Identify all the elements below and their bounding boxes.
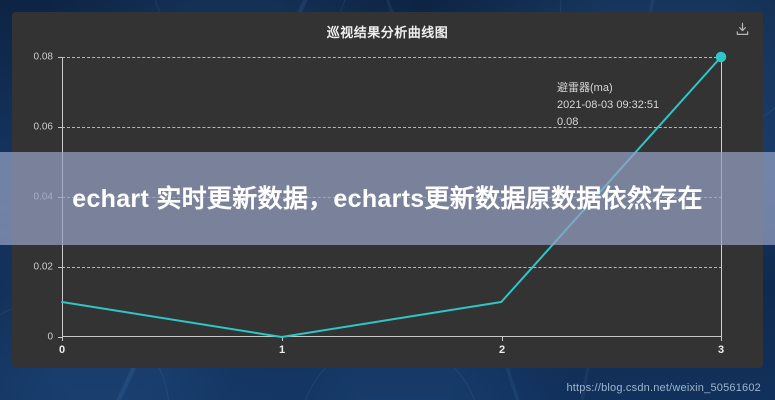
- y-axis-label: 0: [47, 332, 53, 343]
- y-axis-label: 0.02: [34, 262, 53, 273]
- y-axis-label: 0.08: [34, 52, 53, 63]
- article-title: echart 实时更新数据，echarts更新数据原数据依然存在: [48, 182, 727, 216]
- x-axis-label: 3: [718, 344, 724, 356]
- chart-title: 巡视结果分析曲线图: [12, 22, 763, 41]
- x-tick: [721, 337, 722, 341]
- x-axis-label: 1: [279, 344, 285, 356]
- download-icon[interactable]: [731, 18, 753, 40]
- x-tick: [62, 337, 63, 341]
- watermark-url: https://blog.csdn.net/weixin_50561602: [566, 382, 761, 394]
- y-axis-label: 0.06: [34, 122, 53, 133]
- x-axis-label: 2: [499, 344, 505, 356]
- article-title-banner: echart 实时更新数据，echarts更新数据原数据依然存在: [0, 152, 775, 245]
- x-tick: [502, 337, 503, 341]
- x-axis-label: 0: [59, 344, 65, 356]
